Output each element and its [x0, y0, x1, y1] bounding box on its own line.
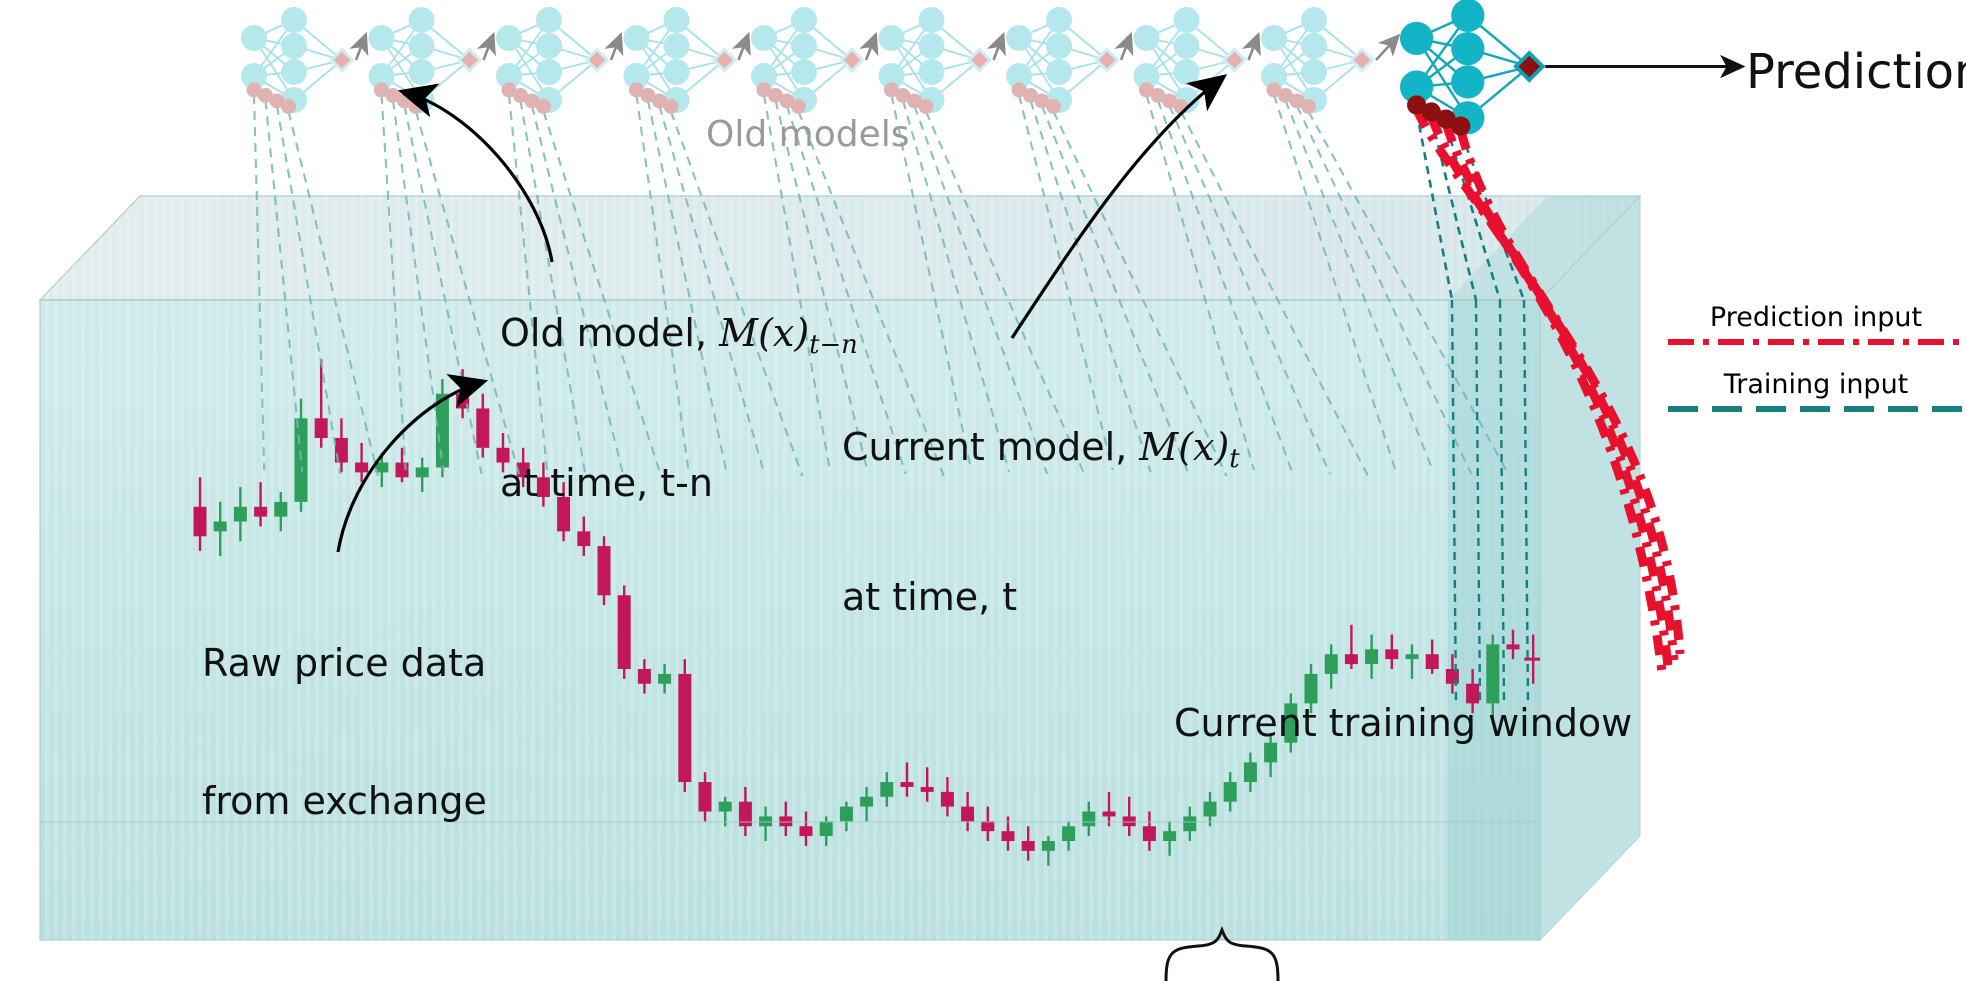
current-model-text: Current model, [842, 425, 1139, 469]
current-model-annotation-line2: at time, t [842, 574, 1240, 620]
training-window-brace [1166, 930, 1278, 981]
legend-item-prediction-input: Prediction input [1666, 302, 1966, 355]
legend-item-training-input: Training input [1666, 369, 1966, 422]
old-model-annotation: Old model, M(x)t−n at time, t-n [500, 218, 858, 598]
legend-swatch-prediction-input [1666, 333, 1966, 351]
arrow-to-raw-price-data [338, 382, 482, 552]
current-model-subscript: t [1229, 444, 1239, 474]
current-model-annotation-line1: Current model, M(x)t [842, 424, 1240, 482]
current-model-annotation: Current model, M(x)t at time, t [842, 332, 1240, 712]
legend-label-prediction-input: Prediction input [1666, 302, 1966, 333]
arrow-to-current-model [1012, 78, 1222, 338]
old-model-math: M(x) [719, 311, 809, 355]
legend-swatch-training-input [1666, 400, 1966, 418]
prediction-label: Prediction [1746, 44, 1966, 100]
old-models-label: Old models [706, 114, 909, 155]
old-model-annotation-line1: Old model, M(x)t−n [500, 310, 858, 368]
current-training-window-label: Current training window [1174, 700, 1632, 746]
raw-price-annotation-line1: Raw price data [202, 640, 487, 686]
raw-price-annotation-line2: from exchange [202, 778, 487, 824]
legend: Prediction input Training input [1666, 302, 1966, 422]
figure-root: FreqAI ₿ [0, 0, 1966, 981]
raw-price-annotation: Raw price data from exchange [202, 548, 487, 916]
legend-label-training-input: Training input [1666, 369, 1966, 400]
old-model-text: Old model, [500, 311, 719, 355]
current-model-math: M(x) [1139, 425, 1229, 469]
old-model-annotation-line2: at time, t-n [500, 460, 858, 506]
